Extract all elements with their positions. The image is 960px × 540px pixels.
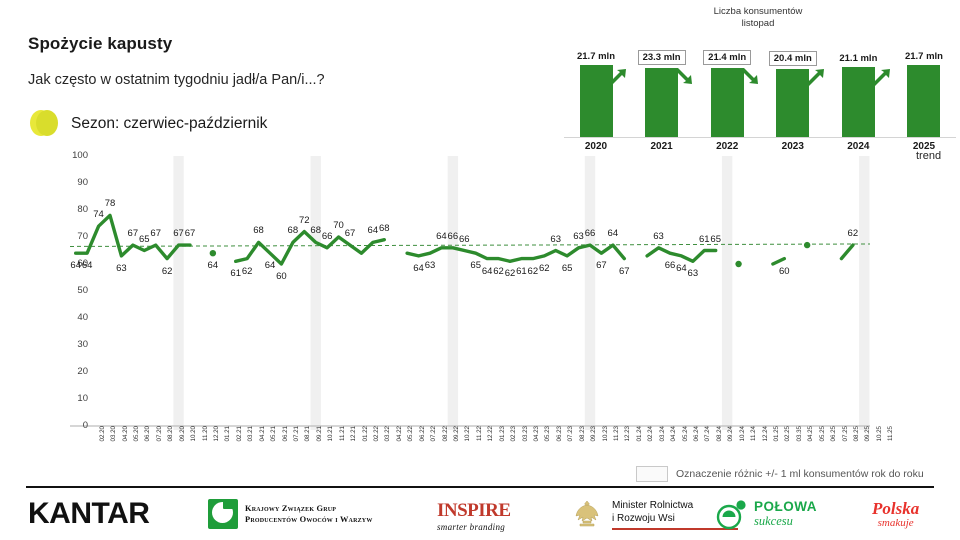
x-tick-label: 07.25 bbox=[842, 426, 849, 441]
season-label: Sezon: czerwiec-październik bbox=[71, 115, 267, 133]
krajowy-zwiazek-grup-logo: Krajowy Związek Grup Producentów Owoców … bbox=[208, 499, 373, 529]
x-tick-label: 06.20 bbox=[144, 426, 151, 441]
inspire-line1: INSPIRE bbox=[437, 500, 511, 522]
bar-axis-line bbox=[564, 137, 956, 138]
x-tick-label: 07.23 bbox=[567, 426, 574, 441]
data-point-label: 67 bbox=[148, 228, 164, 239]
data-point bbox=[735, 261, 741, 267]
footer-divider bbox=[26, 486, 934, 488]
trend-label: trend bbox=[916, 150, 941, 162]
data-point-label: 62 bbox=[239, 266, 255, 277]
x-tick-label: 08.20 bbox=[167, 426, 174, 441]
line-plot-area bbox=[70, 156, 870, 426]
inspire-line2: smarter branding bbox=[437, 522, 505, 532]
x-tick-label: 10.25 bbox=[876, 426, 883, 441]
x-tick-label: 03.20 bbox=[110, 426, 117, 441]
bar-value-label: 21.7 mln bbox=[577, 51, 615, 62]
x-tick-label: 01.25 bbox=[773, 426, 780, 441]
line-segment bbox=[236, 232, 385, 264]
data-point-label: 67 bbox=[616, 266, 632, 277]
x-tick-label: 01.21 bbox=[224, 426, 231, 441]
data-point-label: 68 bbox=[285, 225, 301, 236]
x-tick-label: 09.25 bbox=[864, 426, 871, 441]
line-segment bbox=[841, 245, 853, 259]
data-point-label: 64 bbox=[262, 260, 278, 271]
line-segment bbox=[773, 259, 784, 264]
bar bbox=[842, 67, 875, 138]
polowa-line2: sukcesu bbox=[754, 514, 817, 529]
kantar-logo-text: KANTAR bbox=[28, 497, 149, 531]
bar-value-label: 23.3 mln bbox=[638, 50, 686, 65]
x-tick-label: 06.23 bbox=[556, 426, 563, 441]
bar-column: 21.7 mln bbox=[896, 50, 952, 138]
trend-arrow-down-icon bbox=[674, 68, 694, 84]
x-tick-label: 10.20 bbox=[190, 426, 197, 441]
inspire-logo: INSPIRE smarter branding bbox=[437, 500, 511, 532]
x-tick-label: 03.21 bbox=[247, 426, 254, 441]
x-tick-label: 06.25 bbox=[830, 426, 837, 441]
data-point-label: 62 bbox=[159, 266, 175, 277]
x-tick-label: 10.24 bbox=[739, 426, 746, 441]
x-tick-label: 11.25 bbox=[887, 426, 894, 441]
y-tick-label: 80 bbox=[58, 204, 88, 215]
x-tick-label: 12.22 bbox=[487, 426, 494, 441]
x-tick-label: 04.22 bbox=[396, 426, 403, 441]
x-tick-label: 12.24 bbox=[762, 426, 769, 441]
y-tick-label: 20 bbox=[58, 366, 88, 377]
bar bbox=[711, 68, 744, 138]
bar-column: 23.3 mln bbox=[634, 50, 690, 138]
data-point-label: 67 bbox=[342, 228, 358, 239]
x-tick-label: 04.25 bbox=[807, 426, 814, 441]
x-tick-label: 07.22 bbox=[430, 426, 437, 441]
x-tick-label: 11.21 bbox=[339, 426, 346, 441]
data-point-label: 60 bbox=[273, 271, 289, 282]
bar-value-label: 21.7 mln bbox=[905, 51, 943, 62]
data-point-label: 63 bbox=[685, 268, 701, 279]
bar-value-label: 20.4 mln bbox=[769, 51, 817, 66]
data-point-label: 63 bbox=[113, 263, 129, 274]
data-point-label: 72 bbox=[296, 215, 312, 226]
x-tick-label: 08.23 bbox=[579, 426, 586, 441]
x-tick-label: 02.24 bbox=[647, 426, 654, 441]
polska-line2: smakuje bbox=[878, 517, 914, 529]
x-tick-label: 08.25 bbox=[853, 426, 860, 441]
data-point-label: 68 bbox=[251, 225, 267, 236]
y-tick-label: 0 bbox=[58, 420, 88, 431]
x-tick-label: 02.22 bbox=[373, 426, 380, 441]
trend-arrow-up-icon bbox=[806, 68, 826, 84]
bar-chart-title-line2: listopad bbox=[560, 18, 956, 30]
x-tick-label: 08.21 bbox=[304, 426, 311, 441]
x-tick-label: 04.23 bbox=[533, 426, 540, 441]
data-point-label: 66 bbox=[319, 231, 335, 242]
x-tick-label: 01.23 bbox=[499, 426, 506, 441]
x-tick-label: 04.24 bbox=[670, 426, 677, 441]
x-tick-label: 01.24 bbox=[636, 426, 643, 441]
x-tick-label: 03.35 bbox=[796, 426, 803, 441]
x-tick-label: 07.24 bbox=[704, 426, 711, 441]
data-point-label: 65 bbox=[559, 263, 575, 274]
y-tick-label: 70 bbox=[58, 231, 88, 242]
data-point-label: 66 bbox=[456, 234, 472, 245]
x-tick-label: 10.21 bbox=[327, 426, 334, 441]
bar-column: 20.4 mln bbox=[765, 50, 821, 138]
data-point-label: 63 bbox=[422, 260, 438, 271]
difference-legend: Oznaczenie różnic +/- 1 ml konsumentów r… bbox=[636, 466, 924, 482]
polish-eagle-icon bbox=[570, 497, 604, 531]
consumers-bar-chart: Liczba konsumentów listopad 21.7 mln23.3… bbox=[560, 6, 956, 158]
season-legend: Sezon: czerwiec-październik bbox=[30, 110, 267, 137]
kzg-mark-icon bbox=[208, 499, 238, 529]
november-band bbox=[585, 156, 595, 430]
x-tick-label: 06.21 bbox=[282, 426, 289, 441]
x-tick-label: 09.24 bbox=[727, 426, 734, 441]
data-point-label: 60 bbox=[776, 266, 792, 277]
x-tick-label: 12.20 bbox=[213, 426, 220, 441]
x-tick-label: 10.23 bbox=[602, 426, 609, 441]
x-tick-label: 05.23 bbox=[544, 426, 551, 441]
y-tick-label: 50 bbox=[58, 285, 88, 296]
polowa-line1: POŁOWA bbox=[754, 499, 817, 514]
bar-columns: 21.7 mln23.3 mln21.4 mln20.4 mln21.1 mln… bbox=[568, 50, 952, 138]
cabbage-dot-icon bbox=[30, 110, 58, 137]
line-series-svg bbox=[70, 156, 870, 430]
data-point-label: 65 bbox=[708, 234, 724, 245]
bar-column: 21.1 mln bbox=[830, 50, 886, 138]
y-tick-label: 40 bbox=[58, 312, 88, 323]
data-point-label: 63 bbox=[548, 234, 564, 245]
x-tick-label: 02.21 bbox=[236, 426, 243, 441]
november-band bbox=[448, 156, 458, 430]
y-tick-label: 10 bbox=[58, 393, 88, 404]
minister-rolnictwa-logo: Minister Rolnictwa i Rozwoju Wsi bbox=[570, 497, 738, 531]
x-tick-label: 11.24 bbox=[750, 426, 757, 441]
x-tick-label: 03.23 bbox=[522, 426, 529, 441]
legend-swatch-box bbox=[636, 466, 668, 482]
x-tick-label: 07.21 bbox=[293, 426, 300, 441]
y-tick-label: 100 bbox=[58, 150, 88, 161]
data-point-label: 63 bbox=[651, 231, 667, 242]
bar-column: 21.4 mln bbox=[699, 50, 755, 138]
x-tick-label: 03.22 bbox=[384, 426, 391, 441]
y-tick-label: 30 bbox=[58, 339, 88, 350]
trend-arrow-up-icon bbox=[872, 68, 892, 84]
consumption-line-chart: trend 02.2003.2004.2005.2006.2007.2008.2… bbox=[26, 150, 936, 460]
line-segment bbox=[647, 248, 716, 261]
x-tick-label: 08.22 bbox=[442, 426, 449, 441]
bar-value-label: 21.4 mln bbox=[703, 50, 751, 65]
trend-arrow-up-icon bbox=[608, 68, 628, 84]
x-tick-label: 08.24 bbox=[716, 426, 723, 441]
data-point-label: 67 bbox=[593, 260, 609, 271]
data-point-label: 64 bbox=[605, 228, 621, 239]
trend-arrow-down-icon bbox=[740, 68, 760, 84]
data-point-label: 64 bbox=[79, 260, 95, 271]
x-tick-label: 05.20 bbox=[133, 426, 140, 441]
polowa-mark-icon bbox=[715, 498, 747, 530]
data-point bbox=[210, 250, 216, 256]
x-tick-label: 04.21 bbox=[259, 426, 266, 441]
x-tick-label: 04.20 bbox=[122, 426, 129, 441]
bar-chart-title: Liczba konsumentów listopad bbox=[560, 6, 956, 30]
kzg-line2: Producentów Owoców i Warzyw bbox=[245, 514, 373, 525]
data-point-label: 66 bbox=[582, 228, 598, 239]
x-tick-label: 05.22 bbox=[407, 426, 414, 441]
x-tick-label: 07.20 bbox=[156, 426, 163, 441]
legend-note: Oznaczenie różnic +/- 1 ml konsumentów r… bbox=[676, 468, 924, 480]
x-tick-label: 09.22 bbox=[453, 426, 460, 441]
x-tick-label: 09.20 bbox=[179, 426, 186, 441]
page-title: Spożycie kapusty bbox=[28, 34, 172, 54]
x-tick-label: 10.22 bbox=[464, 426, 471, 441]
bar bbox=[907, 65, 940, 138]
data-point bbox=[804, 242, 810, 248]
polska-line1: Polska bbox=[872, 499, 919, 519]
bar bbox=[776, 69, 809, 138]
x-tick-label: 06.22 bbox=[419, 426, 426, 441]
survey-question: Jak często w ostatnim tygodniu jadł/a Pa… bbox=[28, 72, 325, 88]
data-point-label: 67 bbox=[182, 228, 198, 239]
kzg-line1: Krajowy Związek Grup bbox=[245, 503, 373, 514]
x-tick-label: 02.20 bbox=[99, 426, 106, 441]
bar-column: 21.7 mln bbox=[568, 50, 624, 138]
november-band bbox=[859, 156, 869, 430]
polowa-sukcesu-logo: POŁOWA sukcesu bbox=[715, 498, 817, 530]
x-tick-label: 05.24 bbox=[682, 426, 689, 441]
x-tick-label: 05.25 bbox=[819, 426, 826, 441]
november-band bbox=[311, 156, 321, 430]
x-tick-label: 09.21 bbox=[316, 426, 323, 441]
x-tick-label: 11.20 bbox=[202, 426, 209, 441]
x-tick-label: 01.22 bbox=[362, 426, 369, 441]
x-tick-label: 02.23 bbox=[510, 426, 517, 441]
data-point-label: 78 bbox=[102, 198, 118, 209]
x-tick-label: 06.24 bbox=[693, 426, 700, 441]
bar-value-label: 21.1 mln bbox=[839, 53, 877, 64]
x-tick-label: 11.23 bbox=[613, 426, 620, 441]
kantar-logo: KANTAR bbox=[28, 497, 149, 531]
data-point-label: 62 bbox=[536, 263, 552, 274]
x-tick-label: 12.23 bbox=[624, 426, 631, 441]
x-tick-label: 05.21 bbox=[270, 426, 277, 441]
x-tick-label: 12.21 bbox=[350, 426, 357, 441]
x-tick-label: 09.23 bbox=[590, 426, 597, 441]
data-point-label: 74 bbox=[91, 209, 107, 220]
data-point-label: 62 bbox=[845, 228, 861, 239]
data-point-label: 68 bbox=[376, 223, 392, 234]
y-tick-label: 90 bbox=[58, 177, 88, 188]
data-point-label: 64 bbox=[205, 260, 221, 271]
november-band bbox=[173, 156, 183, 430]
footer-logos: KANTAR Krajowy Związek Grup Producentów … bbox=[0, 490, 960, 540]
x-tick-label: 11.22 bbox=[476, 426, 483, 441]
polska-smakuje-logo: Polska smakuje bbox=[872, 499, 919, 529]
x-tick-label: 03.24 bbox=[659, 426, 666, 441]
november-band bbox=[722, 156, 732, 430]
bar-chart-title-line1: Liczba konsumentów bbox=[560, 6, 956, 18]
x-tick-label: 02.25 bbox=[784, 426, 791, 441]
